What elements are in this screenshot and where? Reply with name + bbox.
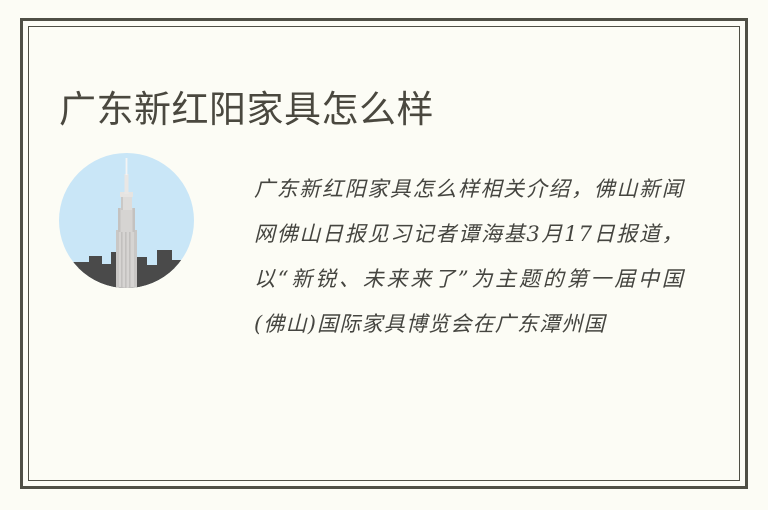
empire-state-building-icon (59, 152, 194, 289)
article-paragraph: 广东新红阳家具怎么样相关介绍，佛山新闻网佛山日报见习记者谭海基3月17日报道，以… (254, 163, 684, 347)
article-thumbnail[interactable] (59, 142, 209, 289)
article-body: 广东新红阳家具怎么样相关介绍，佛山新闻网佛山日报见习记者谭海基3月17日报道，以… (59, 142, 713, 368)
outer-border-frame: 广东新红阳家具怎么样 (20, 18, 748, 489)
article-content: 广东新红阳家具怎么样 (29, 27, 739, 480)
page-title: 广东新红阳家具怎么样 (59, 90, 434, 131)
inner-border-frame: 广东新红阳家具怎么样 (28, 26, 740, 481)
